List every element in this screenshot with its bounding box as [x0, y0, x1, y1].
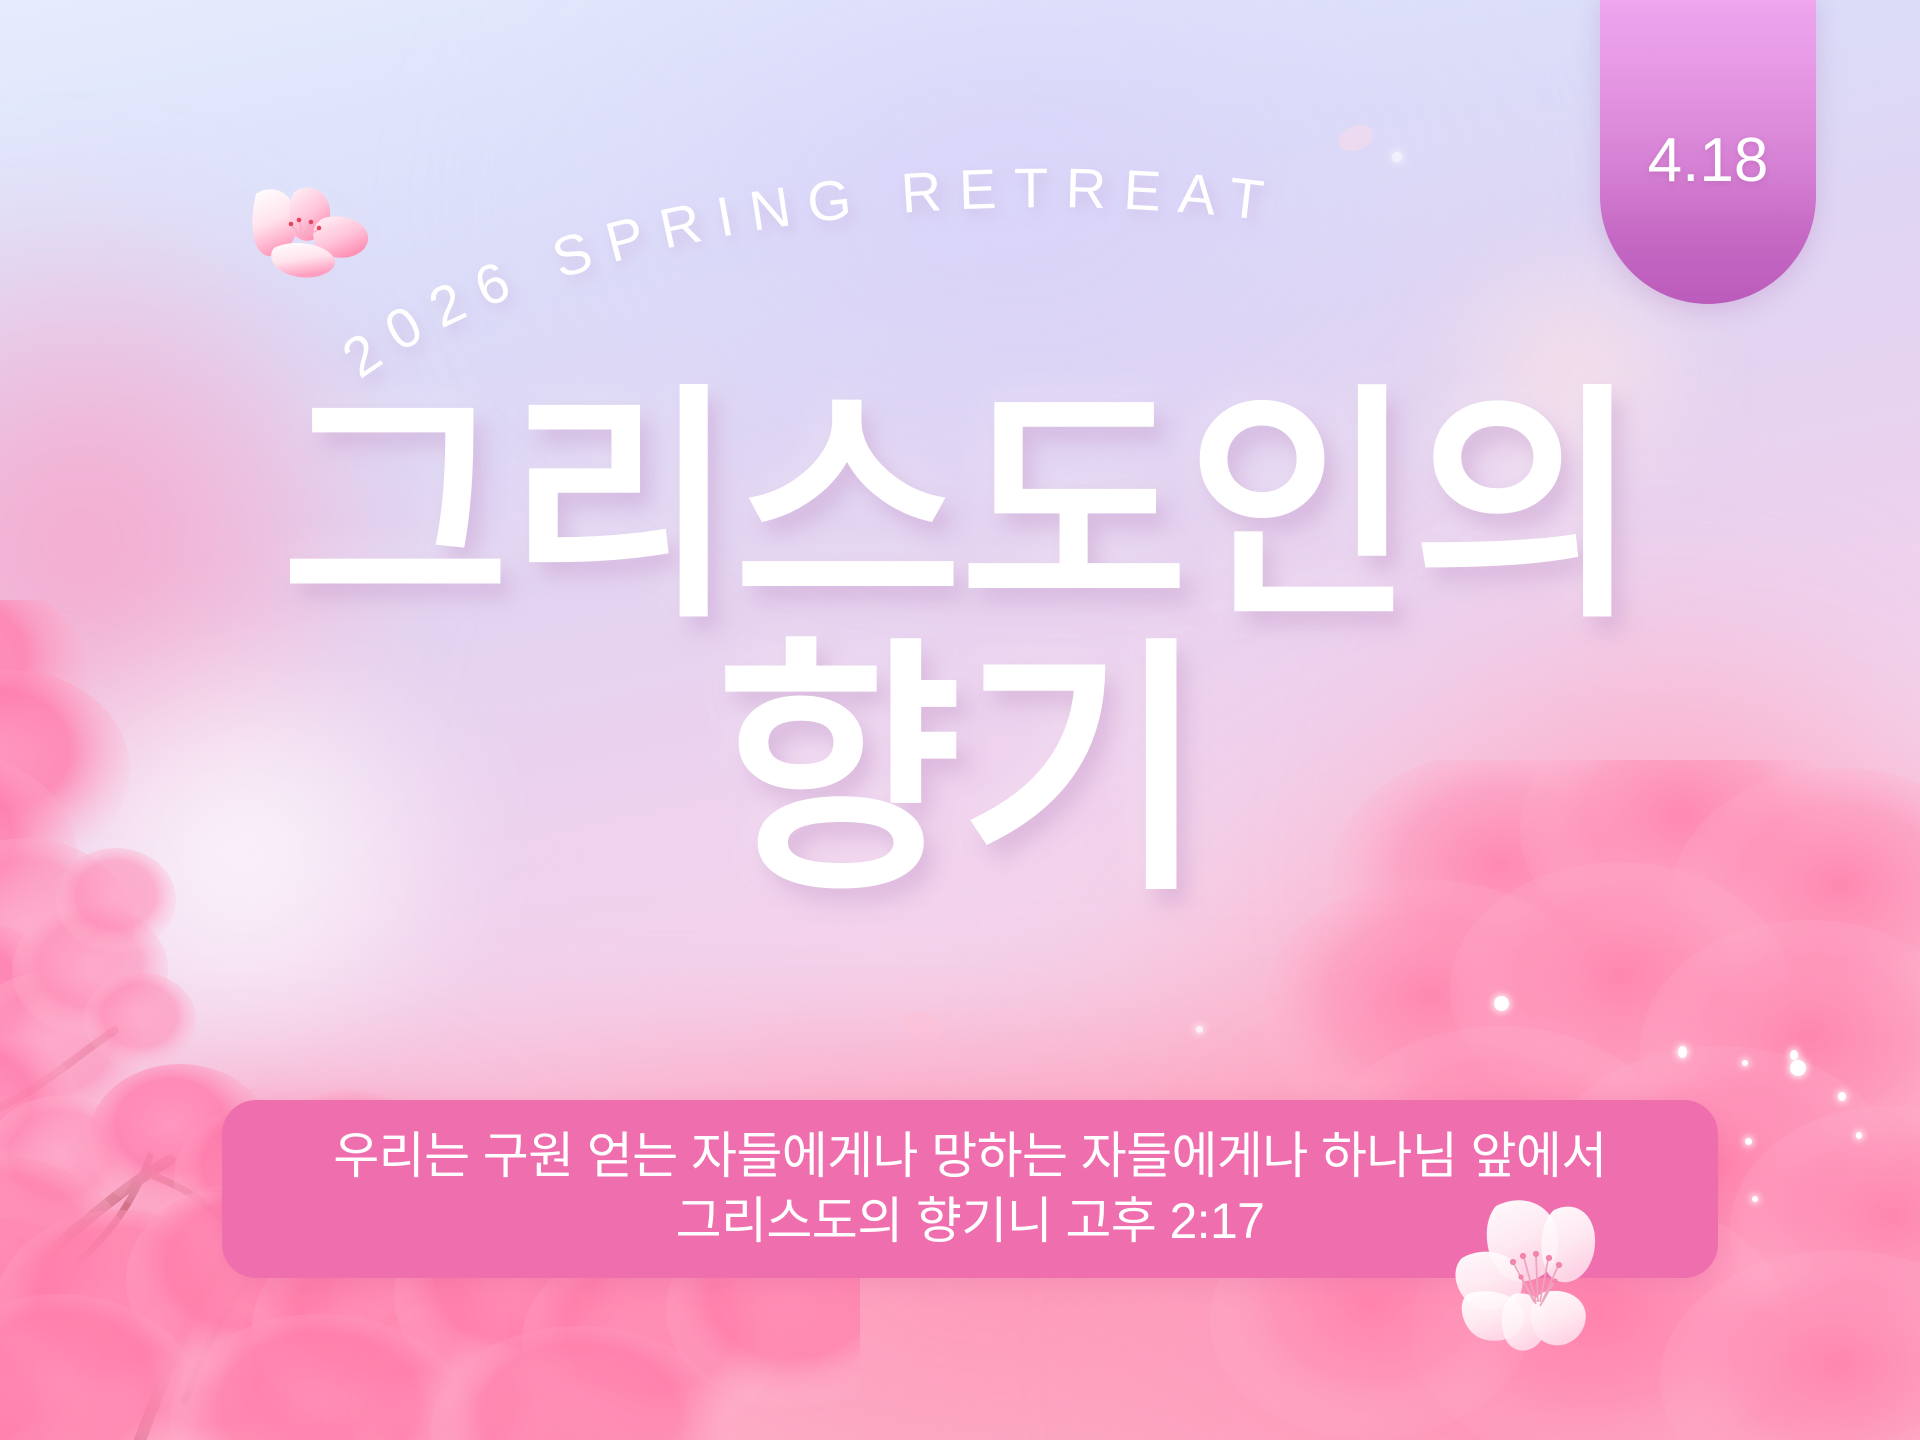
- verse-line-1: 우리는 구원 얻는 자들에게나 망하는 자들에게나 하나님 앞에서: [333, 1124, 1606, 1189]
- sparkle-icon: [1745, 1138, 1752, 1145]
- sparkle-icon: [1790, 1050, 1798, 1060]
- date-badge-label: 4.18: [1648, 130, 1769, 192]
- sparkle-icon: [1196, 1026, 1203, 1033]
- kicker-text-path: 2026 SPRING RETREAT: [331, 156, 1284, 389]
- svg-text:2026 SPRING RETREAT: 2026 SPRING RETREAT: [331, 156, 1284, 389]
- sparkle-icon: [1790, 1060, 1806, 1076]
- title-line-2: 향기: [0, 644, 1920, 899]
- sparkle-icon: [1752, 1196, 1758, 1202]
- sparkle-icon: [1838, 1092, 1846, 1101]
- falling-petal-icon: [900, 1006, 946, 1046]
- sparkle-icon: [1742, 1060, 1748, 1066]
- date-badge[interactable]: 4.18: [1600, 0, 1816, 304]
- spring-retreat-poster: 4.18 2026 SPRING RETREAT 그리스도인의 향기 우리는 구…: [0, 0, 1920, 1440]
- sparkle-icon: [1678, 1046, 1687, 1058]
- sparkle-icon: [1856, 1132, 1862, 1139]
- sparkle-icon: [1494, 996, 1509, 1011]
- cherry-blossom-icon: [1452, 1182, 1652, 1362]
- verse-line-2: 그리스도의 향기니 고후 2:17: [676, 1189, 1265, 1254]
- main-title: 그리스도인의 향기: [0, 390, 1920, 898]
- title-line-1: 그리스도인의: [0, 390, 1920, 626]
